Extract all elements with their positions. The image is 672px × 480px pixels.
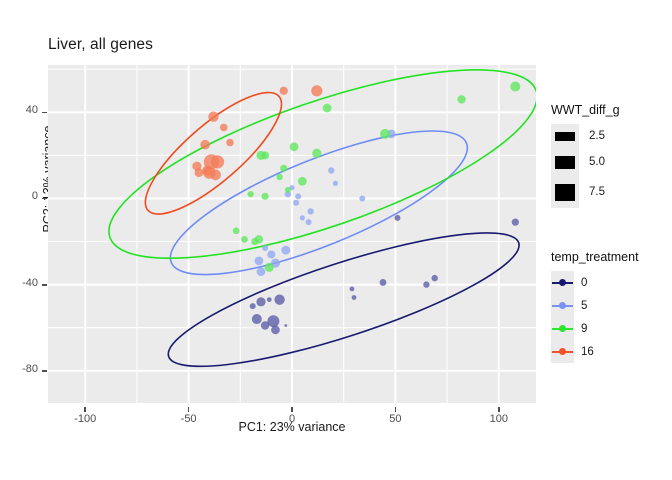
size-legend: WWT_diff_g 2.55.07.5	[551, 103, 620, 208]
data-point	[323, 104, 332, 113]
data-point	[423, 281, 429, 287]
data-point	[290, 142, 299, 151]
plot-panel	[0, 0, 672, 480]
data-point	[312, 149, 321, 158]
data-point	[311, 85, 322, 96]
size-legend-label: 7.5	[589, 186, 605, 198]
data-point	[380, 129, 390, 139]
data-point	[307, 208, 313, 214]
color-legend: temp_treatment 05916	[551, 250, 639, 363]
data-point	[262, 193, 269, 200]
size-legend-label: 2.5	[589, 130, 605, 142]
data-point	[200, 140, 210, 150]
data-point	[233, 227, 240, 234]
color-legend-key	[551, 271, 574, 294]
size-legend-title: WWT_diff_g	[551, 103, 620, 117]
size-legend-label: 5.0	[589, 156, 605, 168]
data-point	[274, 294, 284, 304]
data-point	[257, 267, 266, 276]
color-legend-key	[551, 294, 574, 317]
data-point	[271, 325, 280, 334]
data-point	[298, 177, 307, 186]
color-legend-label: 5	[581, 300, 587, 312]
data-point	[280, 165, 287, 172]
data-point	[208, 111, 218, 121]
data-point	[350, 286, 355, 291]
data-point	[267, 297, 272, 302]
size-legend-key	[551, 176, 579, 208]
color-legend-key	[551, 340, 574, 363]
data-point	[284, 324, 287, 327]
size-legend-key	[551, 124, 579, 148]
data-point	[328, 167, 334, 173]
color-legend-label: 16	[581, 346, 594, 358]
legend-point-glyph	[559, 302, 566, 309]
data-point	[431, 275, 437, 281]
data-point	[295, 193, 301, 199]
color-legend-item-5[interactable]: 5	[551, 294, 639, 317]
legend-point-glyph	[559, 279, 566, 286]
data-point	[306, 219, 312, 225]
data-point	[211, 155, 224, 168]
data-point	[210, 169, 221, 180]
data-point	[267, 315, 279, 327]
color-legend-label: 0	[581, 277, 587, 289]
size-legend-row: 5.0	[551, 148, 620, 176]
pca-scatter-plot: Liver, all genes PC2: 13% variance PC1: …	[0, 0, 672, 480]
legend-point-glyph	[559, 348, 566, 355]
data-point	[280, 87, 288, 95]
color-legend-item-0[interactable]: 0	[551, 271, 639, 294]
size-legend-glyph	[555, 156, 575, 169]
data-point	[256, 297, 265, 306]
data-point	[281, 246, 290, 255]
data-point	[267, 250, 275, 258]
size-legend-glyph	[555, 184, 575, 201]
data-point	[220, 124, 228, 132]
color-legend-item-16[interactable]: 16	[551, 340, 639, 363]
data-point	[394, 215, 400, 221]
data-point	[457, 95, 465, 103]
data-point	[293, 200, 299, 206]
legend-point-glyph	[559, 325, 566, 332]
data-point	[510, 82, 520, 92]
size-legend-row: 2.5	[551, 124, 620, 148]
color-legend-label: 9	[581, 323, 587, 335]
data-point	[359, 195, 365, 201]
data-point	[255, 235, 263, 243]
data-point	[226, 139, 234, 147]
size-legend-key	[551, 148, 579, 176]
data-point	[241, 236, 248, 243]
data-point	[195, 168, 204, 177]
color-legend-key	[551, 317, 574, 340]
data-point	[261, 151, 269, 159]
data-point	[247, 191, 253, 197]
data-point	[512, 219, 519, 226]
data-point	[300, 215, 305, 220]
data-point	[352, 295, 357, 300]
data-point	[276, 174, 282, 180]
data-point	[255, 257, 264, 266]
data-point	[262, 245, 268, 251]
data-point	[252, 314, 262, 324]
data-point	[265, 263, 274, 272]
size-legend-row: 7.5	[551, 176, 620, 208]
color-legend-item-9[interactable]: 9	[551, 317, 639, 340]
data-point	[285, 187, 291, 193]
size-legend-glyph	[555, 132, 575, 141]
color-legend-title: temp_treatment	[551, 250, 639, 264]
data-point	[333, 181, 338, 186]
data-point	[250, 303, 256, 309]
data-point	[380, 279, 387, 286]
